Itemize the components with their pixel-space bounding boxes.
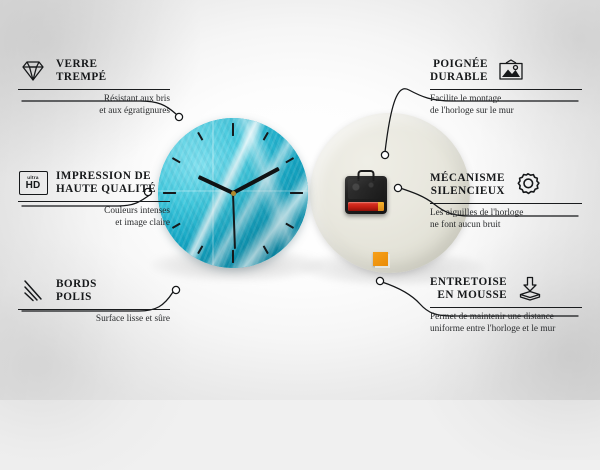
polished-edges-icon <box>18 278 48 304</box>
movement-housing-detail <box>348 179 384 199</box>
feature-title: ENTRETOISE EN MOUSSE <box>430 276 507 303</box>
feature-description: Couleurs intenses et image claire <box>18 206 170 229</box>
battery-icon <box>348 202 384 211</box>
feature-description: Facilite le montage de l'horloge sur le … <box>430 94 582 117</box>
feature-title: POIGNÉE DURABLE <box>430 58 488 85</box>
quartz-movement-icon <box>345 176 387 214</box>
ultra-hd-badge: ultra HD <box>19 171 48 195</box>
feature-title: BORDS POLIS <box>56 278 97 305</box>
feature-header: POIGNÉE DURABLE <box>430 58 582 85</box>
gear-icon <box>513 172 543 198</box>
hand-center-cap <box>231 191 236 196</box>
feature-header: ultra HD IMPRESSION DE HAUTE QUALITÉ <box>18 170 170 197</box>
feature-divider <box>430 307 582 308</box>
foam-spacer-arrow-icon <box>515 276 545 302</box>
feature-mecanisme-silencieux[interactable]: MÉCANISME SILENCIEUX Les aiguilles de l'… <box>430 172 582 231</box>
feature-title: MÉCANISME SILENCIEUX <box>430 172 505 199</box>
feature-description: Résistant aux bris et aux égratignures <box>18 94 170 117</box>
feature-header: BORDS POLIS <box>18 278 170 305</box>
infographic-canvas: VERRE TREMPÉ Résistant aux bris et aux é… <box>0 0 600 400</box>
feature-title: IMPRESSION DE HAUTE QUALITÉ <box>56 170 156 197</box>
feature-divider <box>18 201 170 202</box>
feature-description: Permet de maintenir une distance uniform… <box>430 312 582 335</box>
feature-bords-polis[interactable]: BORDS POLIS Surface lisse et sûre <box>18 278 170 326</box>
feature-verre-trempe[interactable]: VERRE TREMPÉ Résistant aux bris et aux é… <box>18 58 170 117</box>
picture-frame-hanger-icon <box>496 58 526 84</box>
diamond-icon <box>18 58 48 84</box>
feature-poignee-durable[interactable]: POIGNÉE DURABLE Facilite le montage de l… <box>430 58 582 117</box>
feature-header: MÉCANISME SILENCIEUX <box>430 172 582 199</box>
feature-impression-haute-qualite[interactable]: ultra HD IMPRESSION DE HAUTE QUALITÉ Cou… <box>18 170 170 229</box>
feature-divider <box>430 89 582 90</box>
feature-header: ENTRETOISE EN MOUSSE <box>430 276 582 303</box>
foam-spacer-pad <box>373 252 388 266</box>
feature-divider <box>430 203 582 204</box>
feature-title: VERRE TREMPÉ <box>56 58 107 85</box>
ultra-hd-icon: ultra HD <box>18 170 48 196</box>
feature-description: Les aiguilles de l'horloge ne font aucun… <box>430 208 582 231</box>
front-clock-face <box>158 118 308 268</box>
feature-description: Surface lisse et sûre <box>18 314 170 325</box>
feature-divider <box>18 309 170 310</box>
feature-divider <box>18 89 170 90</box>
feature-entretoise-en-mousse[interactable]: ENTRETOISE EN MOUSSE Permet de maintenir… <box>430 276 582 335</box>
feature-header: VERRE TREMPÉ <box>18 58 170 85</box>
ultra-hd-main-label: HD <box>26 181 41 191</box>
